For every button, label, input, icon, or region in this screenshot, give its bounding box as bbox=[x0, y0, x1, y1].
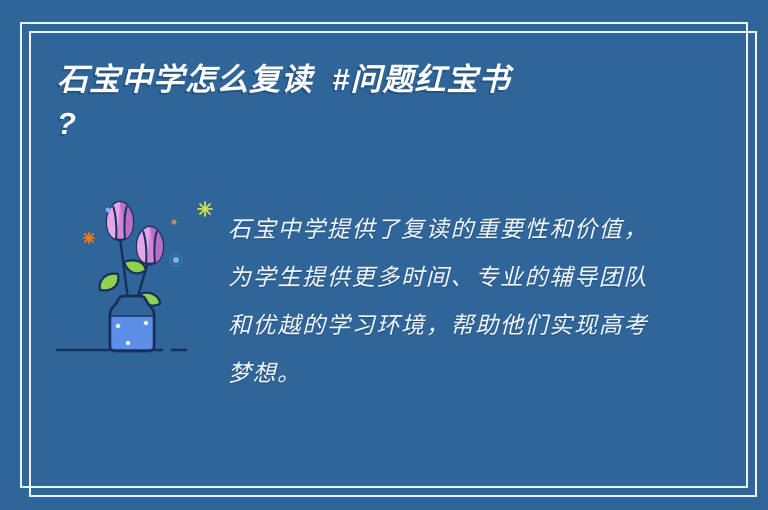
title-line-2: ? bbox=[57, 102, 677, 146]
page-title: 石宝中学怎么复读 #问题红宝书 ? bbox=[57, 58, 677, 146]
title-line-1: 石宝中学怎么复读 #问题红宝书 bbox=[57, 58, 677, 102]
poster-canvas: 石宝中学怎么复读 #问题红宝书 ? 石宝中学提供了复读的重要性和价值，为学生提供… bbox=[0, 0, 768, 510]
tulips-in-vase-icon bbox=[52, 190, 232, 375]
body-paragraph: 石宝中学提供了复读的重要性和价值，为学生提供更多时间、专业的辅导团队和优越的学习… bbox=[228, 206, 648, 398]
